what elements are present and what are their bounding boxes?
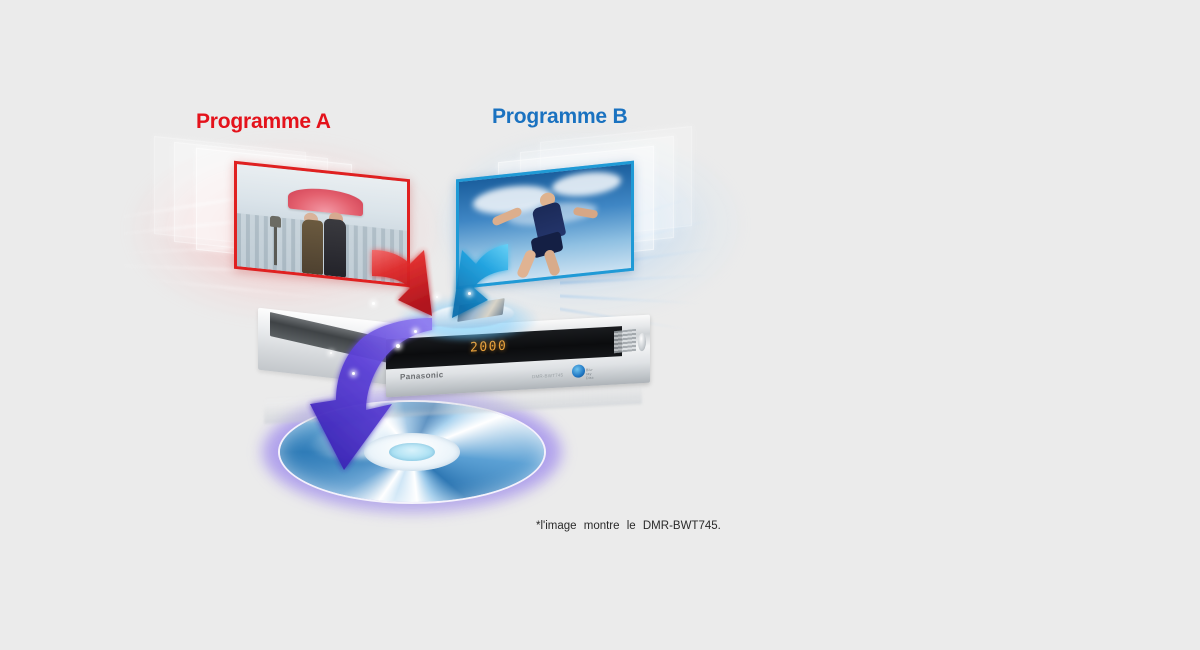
photo-a-couple <box>302 203 346 277</box>
programme-b-photo <box>456 161 634 290</box>
recorder-left-side <box>258 308 404 387</box>
programme-a-group <box>140 130 440 320</box>
recorder-vents <box>614 329 636 353</box>
recorder-side-knob <box>638 333 646 352</box>
programme-a-photo <box>234 161 410 287</box>
blu-ray-recorder: 2000 Panasonic DMR-BWT745 Blu-ray Disc <box>258 318 650 408</box>
recorder-display-value: 2000 <box>470 339 507 356</box>
promo-illustration: Programme A <box>0 0 1200 650</box>
blu-ray-logo-text: Blu-ray Disc <box>586 368 598 381</box>
photo-b-footballer <box>514 188 583 278</box>
blu-ray-disc-icon: Blu-ray Disc <box>572 364 598 378</box>
programme-a-label: Programme A <box>196 110 331 134</box>
recorder-model-text: DMR-BWT745 <box>532 372 563 379</box>
programme-b-group <box>440 126 740 321</box>
panasonic-brand-logo: Panasonic <box>400 370 444 381</box>
photo-a-streetlamp <box>274 224 277 265</box>
disc-hub <box>389 443 435 461</box>
recorder-left-panel <box>270 312 394 364</box>
figure-caption: *l'image montre le DMR-BWT745. <box>536 520 721 532</box>
programme-b-label: Programme B <box>492 105 628 129</box>
